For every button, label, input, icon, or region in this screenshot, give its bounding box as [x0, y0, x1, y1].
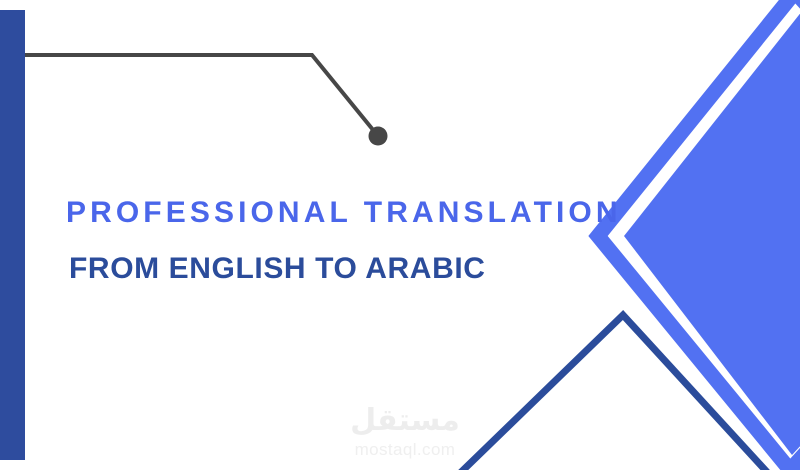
diamond-fill: [624, 6, 800, 455]
banner-canvas: PROFESSIONAL TRANSLATION FROM ENGLISH TO…: [0, 0, 800, 470]
headline-primary: PROFESSIONAL TRANSLATION: [66, 196, 586, 230]
watermark: مستقل mostaql.com: [330, 404, 480, 460]
watermark-arabic-logo: مستقل: [330, 404, 480, 438]
headline-block: PROFESSIONAL TRANSLATION FROM ENGLISH TO…: [66, 196, 586, 286]
headline-secondary: FROM ENGLISH TO ARABIC: [66, 230, 586, 286]
watermark-domain-text: mostaql.com: [330, 438, 480, 460]
